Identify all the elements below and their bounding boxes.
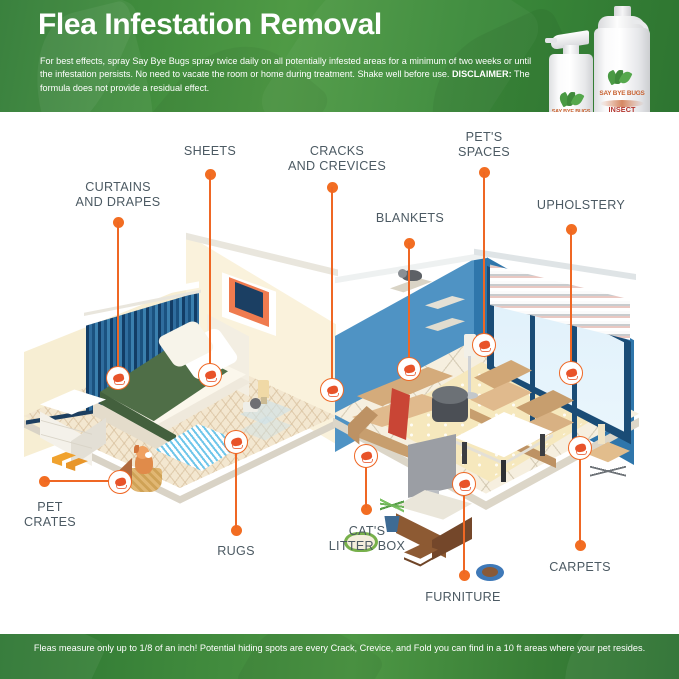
badge-pet-crates[interactable] [108, 470, 132, 494]
side-table-legs [590, 456, 626, 486]
callout-label-upholstery: UPHOLSTERY [516, 198, 646, 213]
callout-line-rugs [235, 452, 237, 528]
footer-banner: Fleas measure only up to 1/8 of an inch!… [0, 634, 679, 679]
leaf-decoration-icon [234, 634, 385, 679]
header-description: For best effects, spray Say Bye Bugs spr… [40, 55, 532, 95]
badge-blankets[interactable] [397, 357, 421, 381]
badge-furniture[interactable] [452, 472, 476, 496]
callout-label-pets-spaces: PET'S SPACES [432, 130, 536, 160]
candle [598, 424, 605, 444]
leaf-decoration-icon [0, 634, 108, 679]
jug-bottle: SAY BYE BUGS INSECT EXTERMINATOR [594, 6, 650, 112]
leaf-logo-icon [558, 92, 584, 108]
plant-leaves-icon [380, 490, 404, 520]
badge-rugs[interactable] [224, 430, 248, 454]
dog-snout [145, 452, 152, 458]
brand-name: SAY BYE BUGS [594, 90, 650, 97]
pouf-top [432, 386, 468, 404]
callout-line-blankets [408, 243, 410, 363]
callout-label-carpets: CARPETS [530, 560, 630, 575]
clock-face [250, 398, 261, 409]
spray-bottle-label: SAY BYE BUGS INSECT EXTERMINATOR [549, 92, 593, 112]
callout-line-upholstery [570, 229, 572, 367]
callout-label-sheets: SHEETS [165, 144, 255, 159]
coffee-table-leg [462, 442, 467, 464]
coffee-table-leg [501, 460, 506, 482]
callout-label-cracks-and-crevices: CRACKS AND CREVICES [272, 144, 402, 174]
callout-label-curtains-and-drapes: CURTAINS AND DRAPES [58, 180, 178, 210]
spray-bottle-body: SAY BYE BUGS INSECT EXTERMINATOR [549, 54, 593, 112]
callout-label-pet-crates: PET CRATES [8, 500, 92, 530]
spray-bottle: SAY BYE BUGS INSECT EXTERMINATOR [549, 28, 593, 112]
callout-label-cats-litter-box: CAT'S LITTER BOX [308, 524, 426, 554]
badge-pets-spaces[interactable] [472, 333, 496, 357]
badge-curtains-and-drapes[interactable] [106, 366, 130, 390]
callout-line-curtains-and-drapes [117, 222, 119, 372]
footer-note: Fleas measure only up to 1/8 of an inch!… [0, 642, 679, 655]
product-bottles-group: SAY BYE BUGS INSECT EXTERMINATOR SAY BYE… [540, 0, 679, 112]
callout-label-blankets: BLANKETS [352, 211, 468, 226]
badge-upholstery[interactable] [559, 361, 583, 385]
floor-lamp-pole [468, 356, 471, 394]
callout-line-cats-litter-box [365, 464, 367, 508]
spray-nozzle [545, 38, 557, 43]
callout-line-carpets [579, 456, 581, 544]
callout-line-furniture [463, 492, 465, 574]
callout-label-rugs: RUGS [200, 544, 272, 559]
callout-label-furniture: FURNITURE [408, 590, 518, 605]
leaf-decoration-icon [543, 634, 679, 679]
page-title: Flea Infestation Removal [38, 8, 382, 42]
callout-line-sheets [209, 174, 211, 369]
leaf-logo-icon [606, 70, 638, 89]
isometric-rooms-illustration: CURTAINS AND DRAPES SHEETS CRACKS AND CR… [0, 112, 679, 634]
food-bowl-inner [482, 567, 498, 577]
callout-line-cracks-and-crevices [331, 187, 333, 383]
upholstery-throw-blanket [388, 388, 410, 440]
label-swoosh [600, 100, 644, 107]
badge-cats-litter-box[interactable] [354, 444, 378, 468]
jug-bottle-label: SAY BYE BUGS INSECT EXTERMINATOR [594, 70, 650, 112]
badge-carpets[interactable] [568, 436, 592, 460]
callout-line-pets-spaces [483, 172, 485, 338]
table-lamp [258, 380, 269, 398]
infographic-page: Flea Infestation Removal For best effect… [0, 0, 679, 679]
jug-bottle-body: SAY BYE BUGS INSECT EXTERMINATOR [594, 28, 650, 112]
cat-head-icon [398, 269, 407, 278]
header-banner: Flea Infestation Removal For best effect… [0, 0, 679, 112]
coffee-table-leg [540, 434, 545, 456]
callout-line-pet-crates [44, 480, 112, 482]
lamp-base [261, 397, 267, 404]
badge-cracks-and-crevices[interactable] [320, 378, 344, 402]
dog-ear-icon [134, 445, 139, 453]
badge-sheets[interactable] [198, 363, 222, 387]
